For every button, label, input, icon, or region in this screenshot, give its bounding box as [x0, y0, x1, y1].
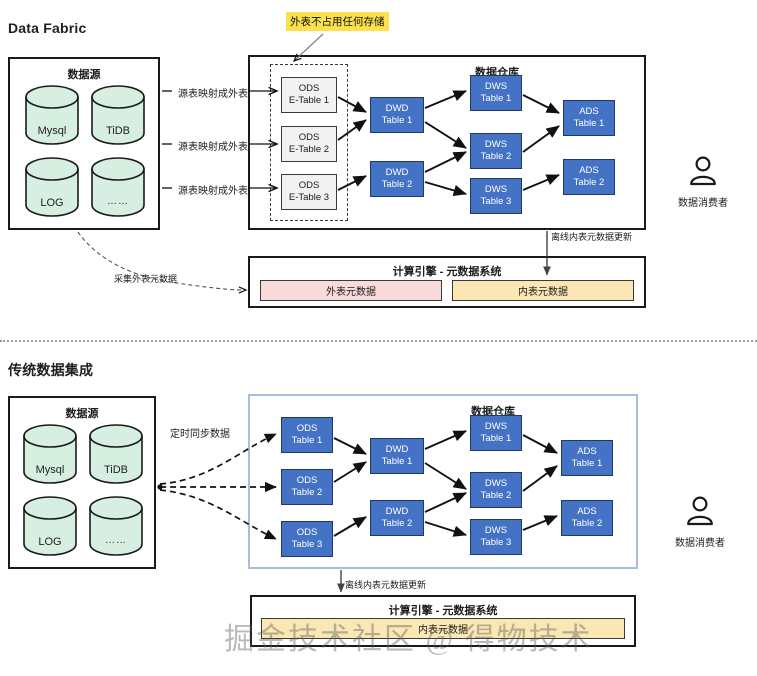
bottom-ods-box-3-line2: Table 3: [292, 539, 323, 551]
person-icon: [688, 155, 718, 187]
bottom-ods-box-2-line2: Table 2: [292, 487, 323, 499]
top-dwd-box-1[interactable]: DWD Table 1: [370, 97, 424, 133]
top-dwd-box-2-line1: DWD: [386, 167, 409, 179]
top-dws-box-1[interactable]: DWS Table 1: [470, 75, 522, 111]
bottom-dwd-box-2-line2: Table 2: [382, 518, 413, 530]
bottom-dwd-box-1-line2: Table 1: [382, 456, 413, 468]
bottom-source-cylinder-tidb: TiDB: [88, 423, 144, 485]
top-source-label-tidb: TiDB: [90, 125, 146, 137]
bottom-dwd-box-1[interactable]: DWD Table 1: [370, 438, 424, 474]
bottom-source-cylinder-mysql: Mysql: [22, 423, 78, 485]
bottom-ads-box-2-line2: Table 2: [572, 518, 603, 530]
bottom-data-consumer: 数据消费者: [655, 495, 745, 549]
bottom-data-source-title: 数据源: [10, 405, 154, 421]
person-icon: [685, 495, 715, 527]
bottom-ods-box-2[interactable]: ODS Table 2: [281, 469, 333, 505]
bottom-ads-box-1[interactable]: ADS Table 1: [561, 440, 613, 476]
top-dwd-box-2[interactable]: DWD Table 2: [370, 161, 424, 197]
bottom-ads-box-2[interactable]: ADS Table 2: [561, 500, 613, 536]
top-dws-box-1-line2: Table 1: [481, 93, 512, 105]
top-ods-box-3[interactable]: ODS E-Table 3: [281, 174, 337, 210]
bottom-ods-box-1-line1: ODS: [297, 423, 318, 435]
bottom-dws-box-3[interactable]: DWS Table 3: [470, 519, 522, 555]
bottom-ods-box-3[interactable]: ODS Table 3: [281, 521, 333, 557]
top-ads-box-2-line1: ADS: [579, 165, 599, 177]
top-source-cylinder-tidb: TiDB: [90, 84, 146, 146]
top-dws-box-2-line2: Table 2: [481, 151, 512, 163]
top-dwd-box-1-line2: Table 1: [382, 115, 413, 127]
bottom-dws-box-2-line1: DWS: [485, 478, 507, 490]
top-ods-box-3-line2: E-Table 3: [289, 192, 329, 204]
top-internal-metadata-chip[interactable]: 内表元数据: [452, 280, 634, 301]
top-data-consumer-label: 数据消费者: [660, 194, 746, 209]
watermark: 掘金技术社区 @ 得物技术: [224, 614, 593, 658]
top-ads-box-2-line2: Table 2: [574, 177, 605, 189]
bottom-dwd-box-1-line1: DWD: [386, 444, 409, 456]
top-dws-box-3-line1: DWS: [485, 184, 507, 196]
bottom-ods-box-3-line1: ODS: [297, 527, 318, 539]
bottom-dws-box-1[interactable]: DWS Table 1: [470, 415, 522, 451]
bottom-ads-box-2-line1: ADS: [577, 506, 597, 518]
bottom-offline-meta-update-label: 离线内表元数据更新: [345, 578, 426, 591]
top-mapping-label-2: 源表映射成外表: [178, 138, 248, 153]
top-ads-box-1-line1: ADS: [579, 106, 599, 118]
bottom-source-label-log: LOG: [22, 536, 78, 548]
bottom-data-consumer-label: 数据消费者: [655, 534, 745, 549]
top-mapping-label-3: 源表映射成外表: [178, 182, 248, 197]
top-ods-box-2-line2: E-Table 2: [289, 144, 329, 156]
top-ods-box-3-line1: ODS: [299, 180, 320, 192]
bottom-ads-box-1-line2: Table 1: [572, 458, 603, 470]
bottom-dws-box-2[interactable]: DWS Table 2: [470, 472, 522, 508]
bottom-sync-label: 定时同步数据: [170, 425, 230, 440]
top-ods-box-2-line1: ODS: [299, 132, 320, 144]
top-external-metadata-label: 外表元数据: [326, 283, 376, 298]
top-ods-box-1-line2: E-Table 1: [289, 95, 329, 107]
bottom-source-label-mysql: Mysql: [22, 464, 78, 476]
top-ods-box-1[interactable]: ODS E-Table 1: [281, 77, 337, 113]
section-divider: [0, 340, 757, 342]
top-source-label-other: ……: [90, 196, 146, 207]
section-title-data-fabric: Data Fabric: [8, 20, 86, 36]
top-collect-external-meta-label: 采集外表元数据: [114, 272, 177, 285]
bottom-ods-box-2-line1: ODS: [297, 475, 318, 487]
top-source-label-log: LOG: [24, 197, 80, 209]
bottom-source-label-other: ……: [88, 535, 144, 546]
bottom-source-cylinder-other: ……: [88, 495, 144, 557]
bottom-dws-box-3-line1: DWS: [485, 525, 507, 537]
top-dwd-box-2-line2: Table 2: [382, 179, 413, 191]
top-source-cylinder-log: LOG: [24, 156, 80, 218]
top-ads-box-1-line2: Table 1: [574, 118, 605, 130]
section-title-traditional: 传统数据集成: [8, 360, 93, 380]
top-data-source-title: 数据源: [10, 66, 158, 82]
top-source-cylinder-other: ……: [90, 156, 146, 218]
top-metadata-title: 计算引擎 - 元数据系统: [250, 263, 644, 279]
top-mapping-label-1: 源表映射成外表: [178, 85, 248, 100]
top-offline-meta-update-label: 离线内表元数据更新: [551, 230, 632, 243]
bottom-dws-box-1-line1: DWS: [485, 421, 507, 433]
bottom-dwd-box-2-line1: DWD: [386, 506, 409, 518]
bottom-ods-box-1[interactable]: ODS Table 1: [281, 417, 333, 453]
top-external-metadata-chip[interactable]: 外表元数据: [260, 280, 442, 301]
bottom-dws-box-1-line2: Table 1: [481, 433, 512, 445]
top-dws-box-2-line1: DWS: [485, 139, 507, 151]
top-dws-box-3[interactable]: DWS Table 3: [470, 178, 522, 214]
bottom-ads-box-1-line1: ADS: [577, 446, 597, 458]
top-dws-box-1-line1: DWS: [485, 81, 507, 93]
top-dwd-box-1-line1: DWD: [386, 103, 409, 115]
bottom-dws-box-3-line2: Table 3: [481, 537, 512, 549]
top-internal-metadata-label: 内表元数据: [518, 283, 568, 298]
top-ads-box-2[interactable]: ADS Table 2: [563, 159, 615, 195]
top-dws-box-2[interactable]: DWS Table 2: [470, 133, 522, 169]
top-source-label-mysql: Mysql: [24, 125, 80, 137]
bottom-dws-box-2-line2: Table 2: [481, 490, 512, 502]
top-data-consumer: 数据消费者: [660, 155, 746, 209]
top-ods-box-2[interactable]: ODS E-Table 2: [281, 126, 337, 162]
top-source-cylinder-mysql: Mysql: [24, 84, 80, 146]
callout-external-table-no-storage: 外表不占用任何存储: [286, 12, 389, 31]
top-ads-box-1[interactable]: ADS Table 1: [563, 100, 615, 136]
bottom-dwd-box-2[interactable]: DWD Table 2: [370, 500, 424, 536]
top-ods-box-1-line1: ODS: [299, 83, 320, 95]
top-dws-box-3-line2: Table 3: [481, 196, 512, 208]
bottom-source-cylinder-log: LOG: [22, 495, 78, 557]
bottom-source-label-tidb: TiDB: [88, 464, 144, 476]
bottom-ods-box-1-line2: Table 1: [292, 435, 323, 447]
